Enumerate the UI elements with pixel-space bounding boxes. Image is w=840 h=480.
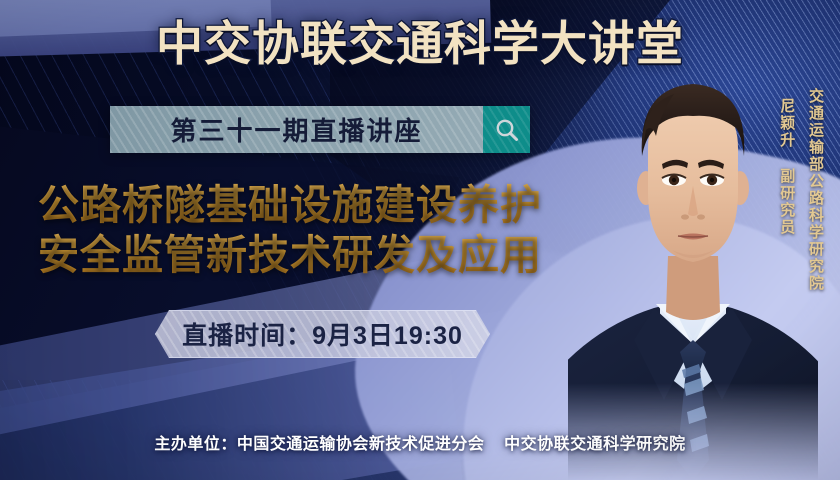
headline-line-1: 公路桥隧基础设施建设养护 xyxy=(38,180,542,230)
search-icon-box[interactable] xyxy=(483,106,530,153)
episode-banner: 第三十一期直播讲座 xyxy=(110,106,530,153)
page-title: 中交协联交通科学大讲堂 xyxy=(0,20,840,67)
live-lecture-poster: 中交协联交通科学大讲堂 第三十一期直播讲座 公路桥隧基础设施建设养护 安全监管新… xyxy=(0,0,840,480)
episode-banner-label: 第三十一期直播讲座 xyxy=(170,111,422,148)
speaker-name-title: 尼颖升 副研究员 xyxy=(774,88,797,292)
organizer-footer-text: 主办单位：中国交通运输协会新技术促进分会 中交协联交通科学研究院 xyxy=(154,436,685,453)
search-icon xyxy=(494,117,520,143)
speaker-credits: 尼颖升 副研究员 交通运输部公路科学研究院 xyxy=(774,88,826,292)
lecture-headline: 公路桥隧基础设施建设养护 安全监管新技术研发及应用 xyxy=(38,180,542,280)
headline-line-2: 安全监管新技术研发及应用 xyxy=(38,230,542,280)
organizer-footer: 主办单位：中国交通运输协会新技术促进分会 中交协联交通科学研究院 xyxy=(0,430,840,454)
episode-banner-body: 第三十一期直播讲座 xyxy=(110,106,483,153)
broadcast-time-text: 直播时间：9月3日19:30 xyxy=(182,316,463,352)
speaker-affiliation: 交通运输部公路科学研究院 xyxy=(803,88,826,292)
broadcast-time-pill: 直播时间：9月3日19:30 xyxy=(155,310,490,358)
